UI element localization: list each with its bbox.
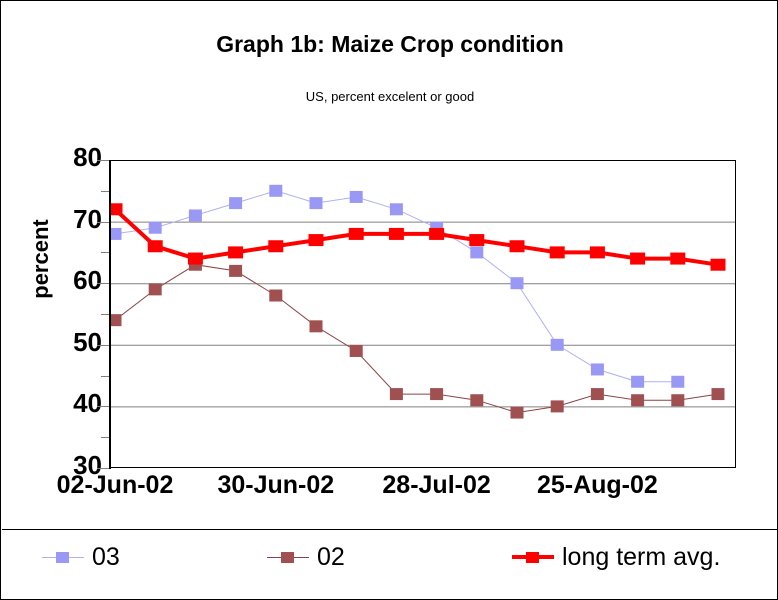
data-point-marker	[430, 388, 443, 400]
data-point-marker	[429, 228, 444, 240]
data-point-marker	[510, 240, 525, 252]
data-point-marker	[390, 203, 403, 215]
data-point-marker	[711, 259, 726, 271]
data-point-marker	[550, 246, 565, 258]
data-point-marker	[389, 228, 404, 240]
data-point-marker	[630, 253, 645, 265]
data-point-marker	[511, 407, 524, 419]
data-point-marker	[551, 400, 564, 412]
data-point-marker	[148, 240, 163, 252]
legend-entry[interactable]: 02	[267, 540, 345, 574]
data-point-marker	[149, 222, 162, 234]
legend-marker	[526, 552, 539, 563]
chart-legend: 0302long term avg.	[2, 529, 778, 600]
legend-key-swatch	[267, 549, 309, 565]
data-point-marker	[349, 228, 364, 240]
data-point-marker	[269, 185, 282, 197]
plot-frame	[111, 161, 736, 468]
legend-key-swatch	[512, 549, 554, 565]
data-point-marker	[631, 376, 644, 388]
data-point-marker	[229, 197, 242, 209]
plot-svg	[110, 160, 736, 468]
data-point-marker	[228, 246, 243, 258]
legend-label: 02	[317, 543, 345, 572]
x-axis-tick-label: 30-Jun-02	[196, 471, 356, 500]
data-point-marker	[390, 388, 403, 400]
data-point-marker	[310, 320, 323, 332]
data-point-marker	[590, 246, 605, 258]
series-line-long-term-avg-	[115, 209, 718, 264]
data-point-marker	[269, 290, 282, 302]
legend-key-swatch	[42, 549, 84, 565]
data-point-marker	[670, 253, 685, 265]
data-point-marker	[149, 283, 162, 295]
legend-marker	[56, 552, 69, 563]
data-point-marker	[350, 345, 363, 357]
data-point-marker	[110, 203, 123, 215]
data-point-marker	[229, 265, 242, 277]
data-point-marker	[470, 246, 483, 258]
plot-area	[110, 160, 736, 468]
series-line-02	[115, 265, 718, 413]
x-axis-tick-label: 28-Jul-02	[357, 471, 517, 500]
data-point-marker	[712, 388, 725, 400]
legend-marker	[281, 552, 294, 563]
data-point-marker	[310, 197, 323, 209]
data-point-marker	[469, 234, 484, 246]
x-axis-tick-label: 02-Jun-02	[35, 471, 195, 500]
data-point-marker	[671, 376, 684, 388]
data-point-marker	[591, 363, 604, 375]
data-point-marker	[350, 191, 363, 203]
data-point-marker	[188, 253, 203, 265]
data-point-marker	[671, 394, 684, 406]
data-point-marker	[551, 339, 564, 351]
legend-label: 03	[92, 543, 120, 572]
data-point-marker	[470, 394, 483, 406]
data-point-marker	[110, 314, 122, 326]
data-point-marker	[189, 209, 202, 221]
legend-entry[interactable]: long term avg.	[512, 540, 720, 574]
data-point-marker	[309, 234, 324, 246]
data-point-marker	[268, 240, 283, 252]
data-point-marker	[631, 394, 644, 406]
x-axis-tick-label: 25-Aug-02	[517, 471, 677, 500]
y-axis-spine	[109, 160, 111, 469]
data-point-marker	[591, 388, 604, 400]
data-point-marker	[110, 228, 122, 240]
chart-figure: Graph 1b: Maize Crop condition US, perce…	[0, 0, 778, 600]
legend-label: long term avg.	[562, 543, 720, 572]
data-point-marker	[511, 277, 524, 289]
legend-entry[interactable]: 03	[42, 540, 120, 574]
